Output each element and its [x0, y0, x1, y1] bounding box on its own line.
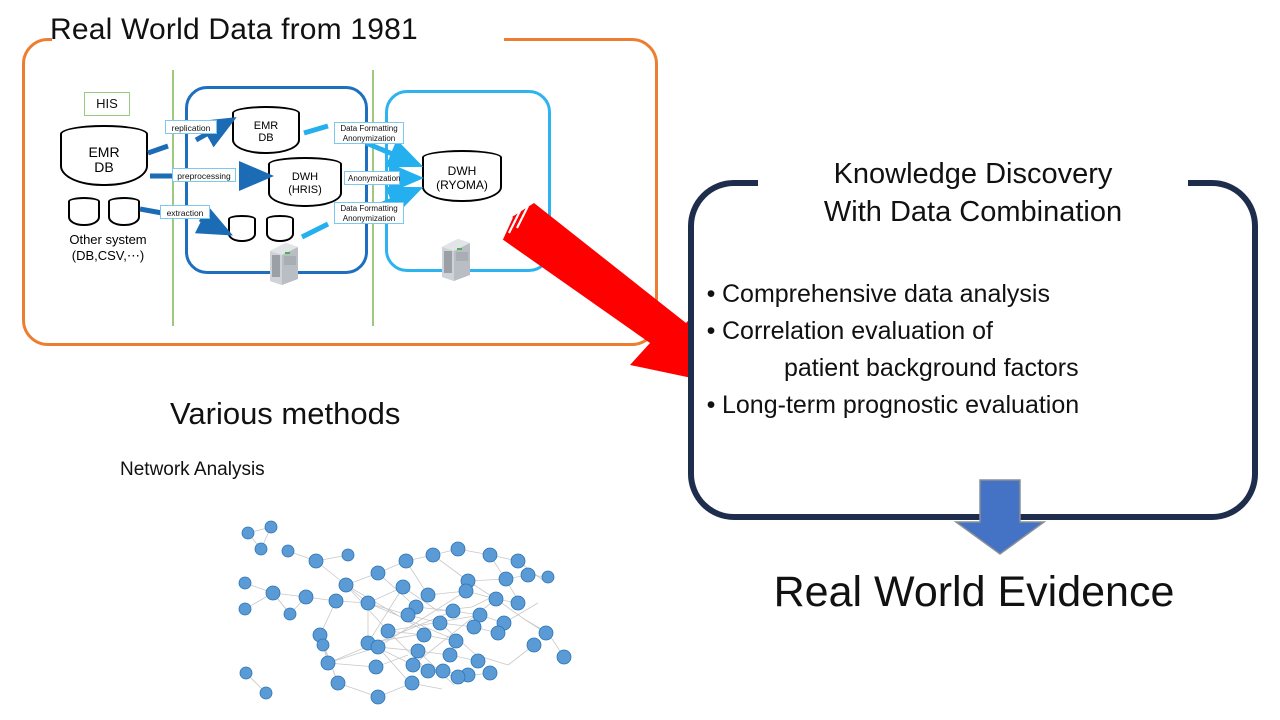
label-preprocessing: preprocessing	[172, 168, 236, 182]
list-item-text-line1: Correlation evaluation of	[722, 317, 993, 345]
label-replication: replication	[165, 120, 217, 134]
list-item: • Long-term prognostic evaluation	[700, 387, 1252, 424]
blue-down-arrow-icon	[952, 478, 1048, 556]
label-data-formatting-bottom: Data Formatting Anonymization	[334, 202, 404, 224]
various-methods-heading: Various methods	[170, 396, 400, 432]
list-item: • Correlation evaluation of patient back…	[700, 313, 1252, 387]
bullet-icon: •	[700, 387, 722, 424]
knowledge-discovery-list: • Comprehensive data analysis • Correlat…	[700, 276, 1252, 424]
slide-canvas: Real World Data from 1981 HIS EMR DB Oth…	[0, 0, 1280, 720]
network-analysis-label: Network Analysis	[120, 459, 265, 481]
knowledge-title-line2: With Data Combination	[690, 193, 1256, 231]
bullet-icon: •	[700, 313, 722, 387]
label-anonymization: Anonymization	[344, 171, 400, 185]
knowledge-title-line1: Knowledge Discovery	[690, 155, 1256, 193]
list-item: • Comprehensive data analysis	[700, 276, 1252, 313]
network-analysis-graph	[228, 515, 578, 710]
real-world-evidence-label: Real World Evidence	[688, 568, 1260, 617]
bullet-icon: •	[700, 276, 722, 313]
list-item-text: Long-term prognostic evaluation	[722, 387, 1252, 424]
list-item-text: Correlation evaluation of patient backgr…	[722, 313, 1252, 387]
label-extraction: extraction	[160, 205, 210, 219]
list-item-text-line2: patient background factors	[722, 350, 1252, 387]
label-data-formatting-top: Data Formatting Anonymization	[334, 122, 404, 144]
knowledge-discovery-title: Knowledge Discovery With Data Combinatio…	[690, 155, 1256, 231]
big-red-arrow	[490, 195, 720, 395]
list-item-text: Comprehensive data analysis	[722, 276, 1252, 313]
